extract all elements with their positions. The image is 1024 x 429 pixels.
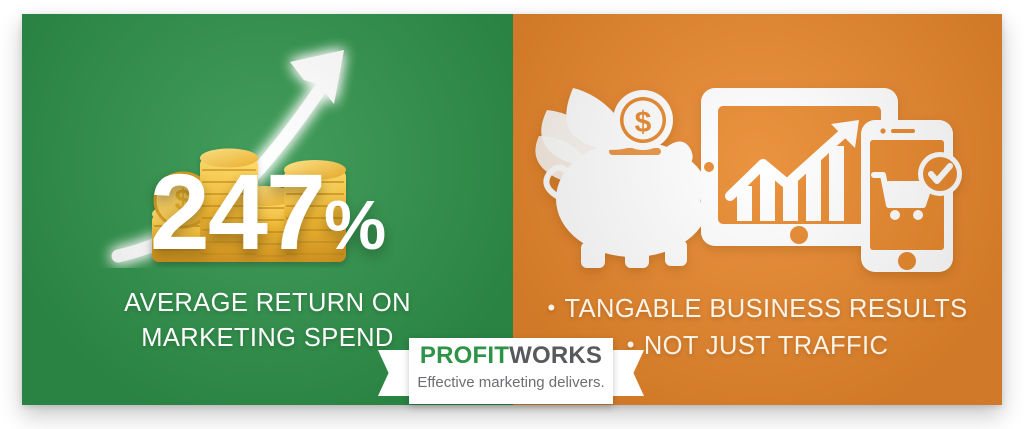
brand-logo: PROFITWORKS bbox=[409, 342, 613, 370]
brand-logo-part1: PROFIT bbox=[420, 342, 509, 369]
ribbon-body: PROFITWORKS Effective marketing delivers… bbox=[409, 338, 613, 404]
right-caption-line1-text: TANGABLE BUSINESS RESULTS bbox=[565, 295, 968, 323]
stat-number: 247% bbox=[22, 164, 513, 273]
infographic-banner: $ bbox=[0, 0, 1024, 429]
devices-piggybank-illustration: $ bbox=[513, 24, 1002, 284]
left-caption-line1: AVERAGE RETURN ON bbox=[22, 286, 513, 321]
phone-icon bbox=[861, 120, 962, 272]
brand-tagline: Effective marketing delivers. bbox=[409, 372, 613, 394]
svg-text:$: $ bbox=[635, 106, 652, 139]
stat-unit: % bbox=[324, 186, 385, 264]
right-panel-artwork: $ bbox=[513, 24, 1002, 284]
right-caption-line2-text: NOT JUST TRAFFIC bbox=[644, 332, 888, 360]
right-caption-line1: •TANGABLE BUSINESS RESULTS bbox=[513, 290, 1002, 327]
dollar-coin-icon: $ bbox=[613, 90, 673, 150]
stat-value: 247 bbox=[150, 151, 324, 272]
brand-ribbon: PROFITWORKS Effective marketing delivers… bbox=[378, 338, 644, 404]
check-badge-icon bbox=[918, 152, 962, 196]
brand-logo-part2: WORKS bbox=[509, 342, 602, 369]
bullet-icon: • bbox=[547, 290, 555, 325]
